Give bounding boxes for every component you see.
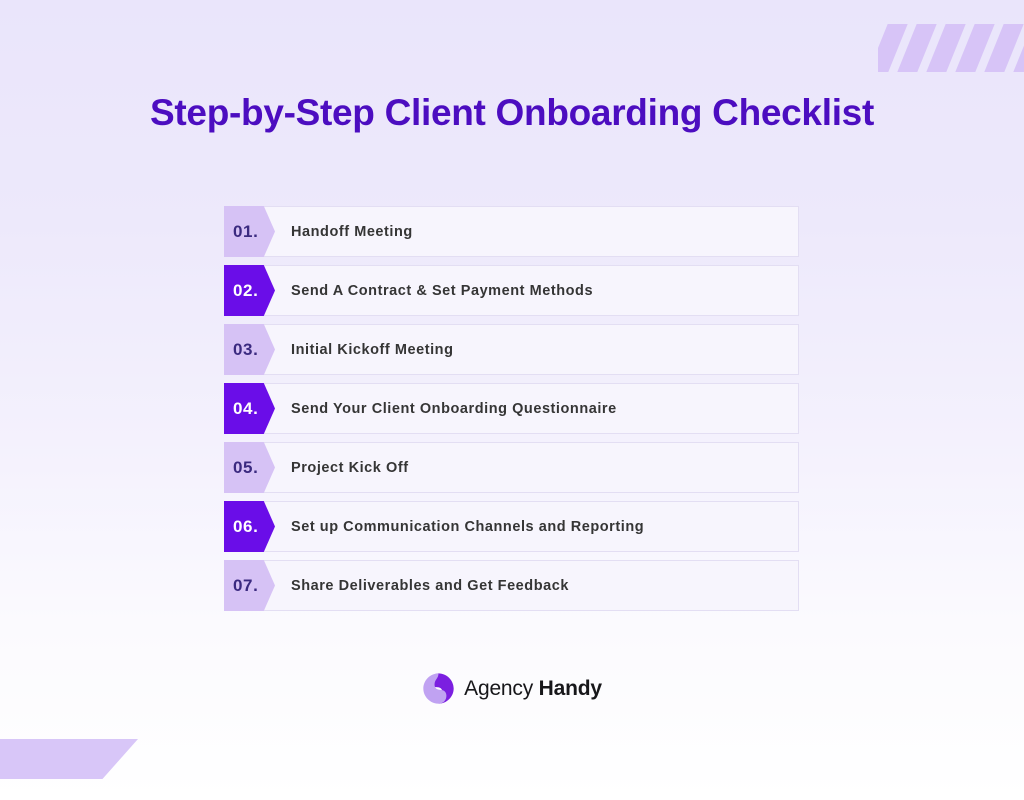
checklist-item[interactable]: 04. Send Your Client Onboarding Question…	[224, 383, 799, 434]
checklist-item[interactable]: 03. Initial Kickoff Meeting	[224, 324, 799, 375]
step-label: Handoff Meeting	[275, 207, 413, 256]
decoration-stripes-top-right	[878, 24, 1024, 72]
step-number-badge: 02.	[224, 265, 275, 316]
step-number-badge: 07.	[224, 560, 275, 611]
step-label: Share Deliverables and Get Feedback	[275, 561, 569, 610]
page-title: Step-by-Step Client Onboarding Checklist	[0, 92, 1024, 134]
brand-footer: Agency Handy	[0, 672, 1024, 705]
step-number-badge: 01.	[224, 206, 275, 257]
step-number-badge: 06.	[224, 501, 275, 552]
step-label: Send Your Client Onboarding Questionnair…	[275, 384, 617, 433]
checklist-item[interactable]: 07. Share Deliverables and Get Feedback	[224, 560, 799, 611]
step-label: Initial Kickoff Meeting	[275, 325, 454, 374]
brand-name-regular: Agency	[464, 677, 538, 700]
checklist: 01. Handoff Meeting 02. Send A Contract …	[224, 206, 799, 611]
checklist-item[interactable]: 05. Project Kick Off	[224, 442, 799, 493]
step-number-badge: 04.	[224, 383, 275, 434]
checklist-item[interactable]: 01. Handoff Meeting	[224, 206, 799, 257]
checklist-item[interactable]: 06. Set up Communication Channels and Re…	[224, 501, 799, 552]
step-number-badge: 05.	[224, 442, 275, 493]
checklist-item[interactable]: 02. Send A Contract & Set Payment Method…	[224, 265, 799, 316]
decoration-shape-bottom-left	[0, 739, 138, 779]
step-number-badge: 03.	[224, 324, 275, 375]
step-label: Set up Communication Channels and Report…	[275, 502, 644, 551]
brand-name-bold: Handy	[539, 677, 602, 700]
step-label: Send A Contract & Set Payment Methods	[275, 266, 593, 315]
agency-handy-logo-icon	[422, 672, 455, 705]
step-label: Project Kick Off	[275, 443, 409, 492]
brand-name: Agency Handy	[464, 677, 602, 701]
